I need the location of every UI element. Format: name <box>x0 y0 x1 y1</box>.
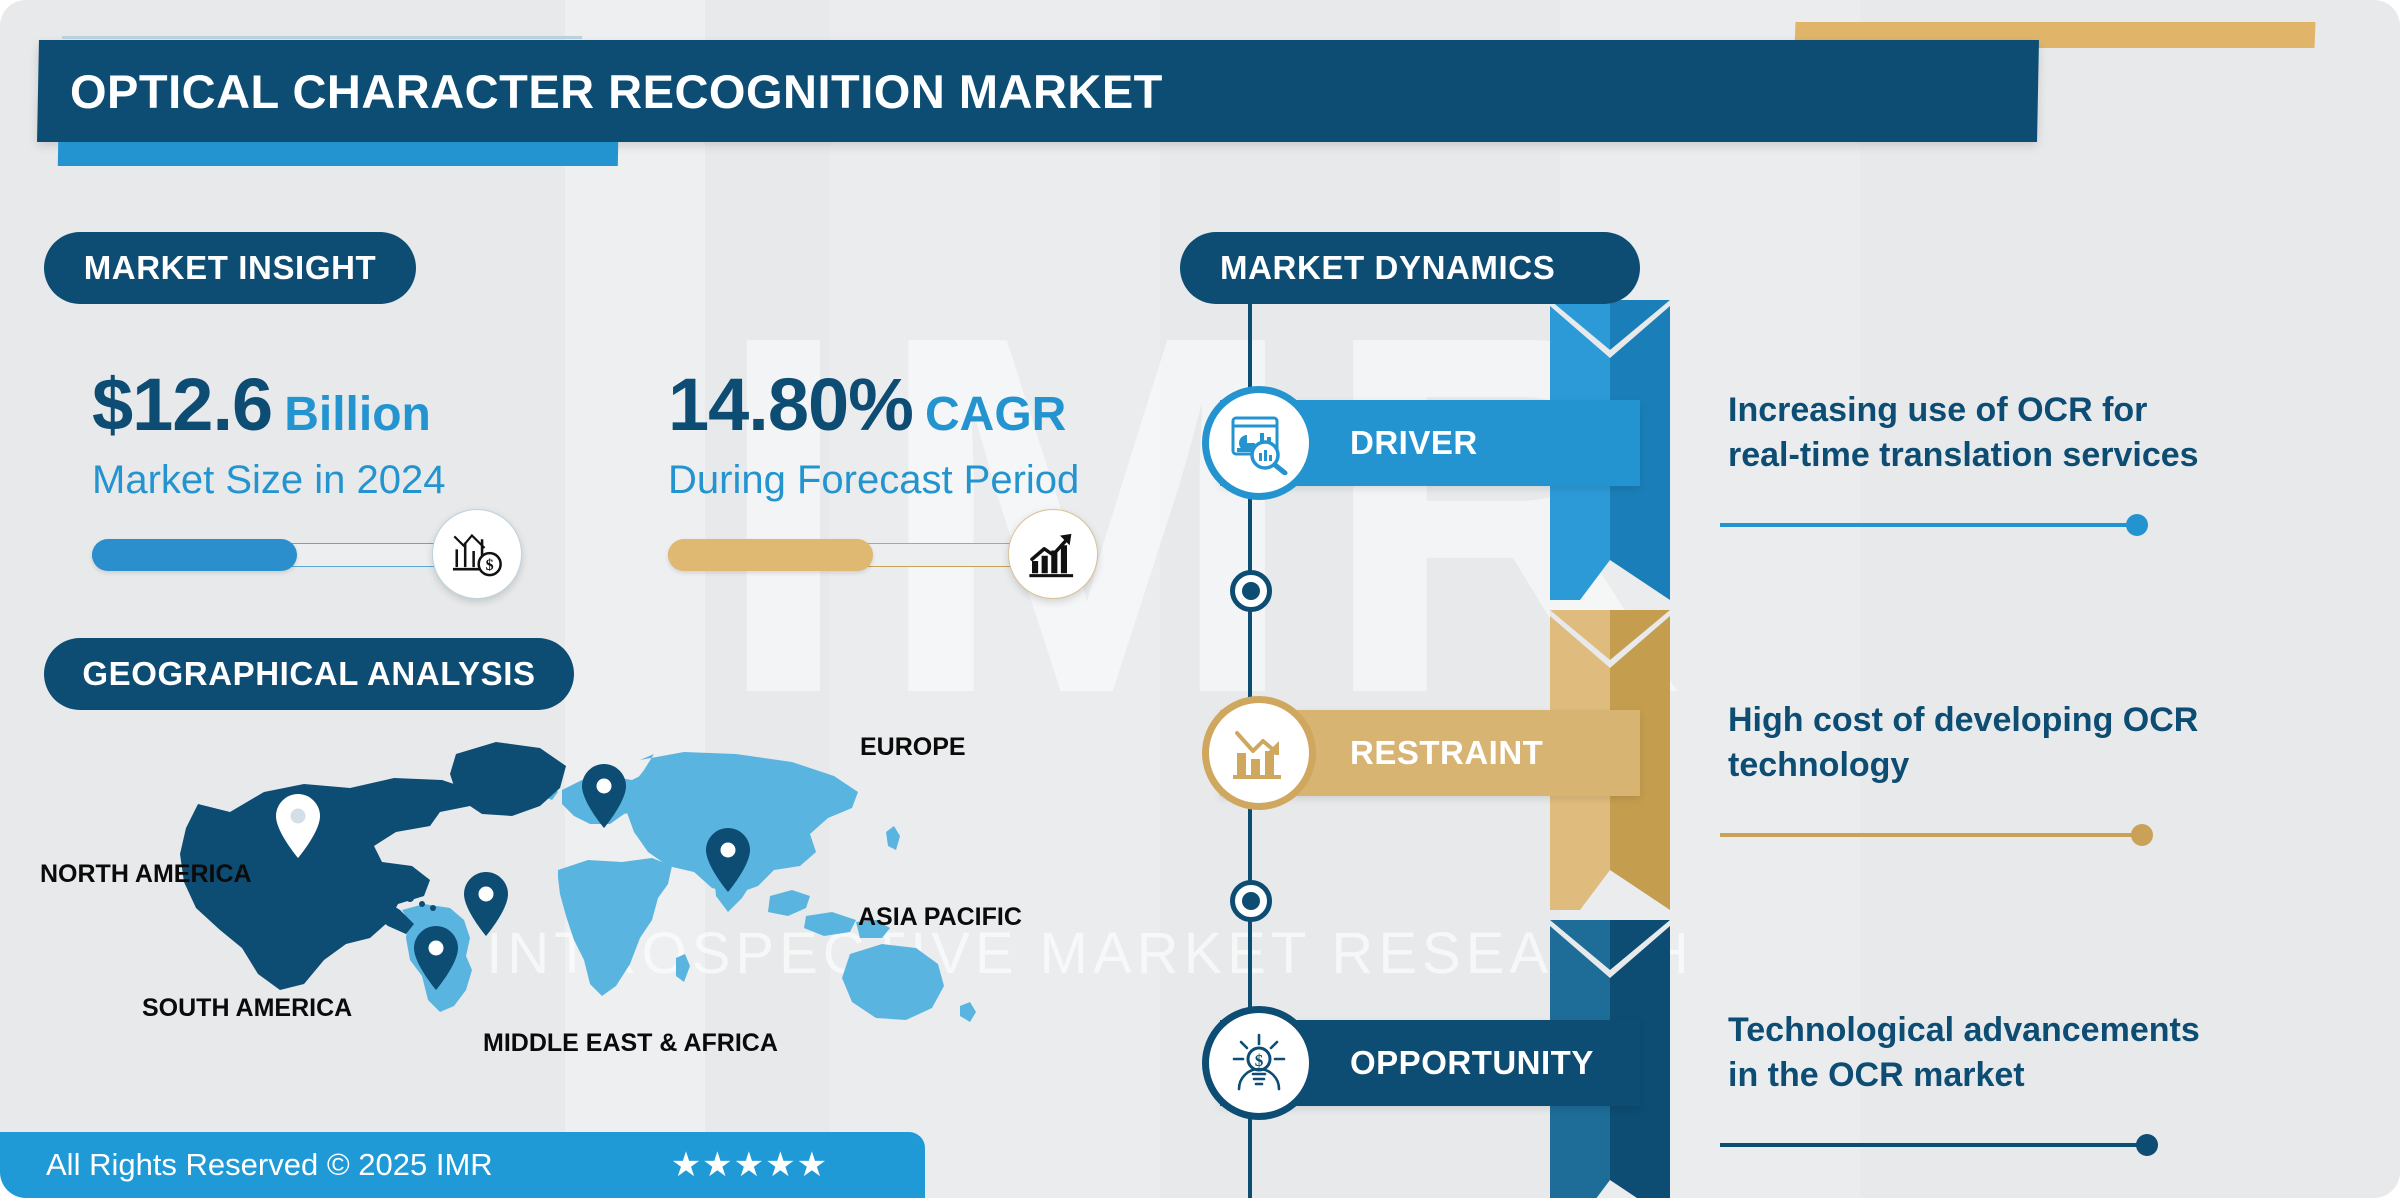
map-label-north-america: NORTH AMERICA <box>40 860 252 889</box>
lightbulb-dollar-icon: $ <box>1202 1006 1316 1120</box>
growth-chart-arrow-icon <box>1008 509 1098 599</box>
stat-market-size-value: $12.6 <box>92 363 272 446</box>
dynamics-text-driver: Increasing use of OCR for real-time tran… <box>1728 388 2228 478</box>
stat-cagr-bar <box>668 537 1058 573</box>
section-pill-market-dynamics: MARKET DYNAMICS <box>1180 232 1640 304</box>
bar-chart-dollar-icon: $ <box>432 509 522 599</box>
stat-market-size-subtitle: Market Size in 2024 <box>92 458 612 503</box>
stat-market-size-unit: Billion <box>284 388 431 441</box>
rating-stars-icon: ★★★★★ <box>671 1145 828 1185</box>
svg-text:$: $ <box>486 557 494 574</box>
footer-bar: All Rights Reserved © 2025 IMR ★★★★★ <box>0 1132 925 1198</box>
declining-bar-chart-icon <box>1202 696 1316 810</box>
dynamics-connector-opportunity <box>1720 1142 2150 1147</box>
dynamics-tag-driver-label: DRIVER <box>1350 424 1478 462</box>
page-title: OPTICAL CHARACTER RECOGNITION MARKET <box>70 52 1970 132</box>
stat-cagr-value: 14.80% <box>668 363 913 446</box>
stat-market-size-headline: $12.6Billion <box>92 368 612 442</box>
map-label-south-america: SOUTH AMERICA <box>142 994 352 1023</box>
dynamics-connector-driver <box>1720 522 2140 527</box>
map-label-asia-pacific: ASIA PACIFIC <box>858 903 1022 932</box>
connector-line <box>1720 1143 2150 1147</box>
stat-cagr-headline: 14.80%CAGR <box>668 368 1228 442</box>
header-blue-underline <box>58 142 618 166</box>
stat-market-size-bar: $ <box>92 537 482 573</box>
infographic-canvas: IMR INTROSPECTIVE MARKET RESEARCH OPTICA… <box>0 0 2400 1198</box>
header-thin-rule <box>62 36 582 39</box>
map-pin-middle-east-africa <box>464 872 508 936</box>
dynamics-tag-restraint-label: RESTRAINT <box>1350 734 1543 772</box>
dynamics-text-restraint: High cost of developing OCR technology <box>1728 698 2228 788</box>
progress-fill <box>668 539 873 571</box>
dynamics-text-opportunity: Technological advancements in the OCR ma… <box>1728 1008 2228 1098</box>
map-label-middle-east-africa: MIDDLE EAST & AFRICA <box>483 1029 778 1058</box>
stat-cagr: 14.80%CAGR During Forecast Period <box>668 368 1228 573</box>
section-pill-market-insight: MARKET INSIGHT <box>44 232 416 304</box>
svg-text:$: $ <box>1255 1051 1264 1070</box>
copyright-text: All Rights Reserved © 2025 IMR <box>46 1147 493 1183</box>
connector-dot <box>2136 1134 2158 1156</box>
stat-cagr-unit: CAGR <box>925 388 1066 441</box>
dashboard-magnifier-icon <box>1202 386 1316 500</box>
connector-dot <box>2131 824 2153 846</box>
connector-dot <box>2126 514 2148 536</box>
stat-market-size: $12.6Billion Market Size in 2024 $ <box>92 368 612 573</box>
dynamics-row-opportunity: OPPORTUNITY $ <box>1180 920 2380 1198</box>
map-label-europe: EUROPE <box>860 733 966 762</box>
dynamics-row-driver: DRIVER Increasing use of OCR for real-ti… <box>1180 300 2380 600</box>
dynamics-tag-opportunity-label: OPPORTUNITY <box>1350 1044 1594 1082</box>
market-dynamics-label: MARKET DYNAMICS <box>1220 249 1555 287</box>
dynamics-row-restraint: RESTRAINT High cost of developing OCR te… <box>1180 610 2380 910</box>
market-insight-label: MARKET INSIGHT <box>84 249 377 287</box>
connector-line <box>1720 523 2140 527</box>
connector-line <box>1720 833 2145 837</box>
geographical-analysis-label: GEOGRAPHICAL ANALYSIS <box>82 655 535 693</box>
progress-fill <box>92 539 297 571</box>
section-pill-geographical-analysis: GEOGRAPHICAL ANALYSIS <box>44 638 574 710</box>
stat-cagr-subtitle: During Forecast Period <box>668 458 1228 503</box>
dynamics-connector-restraint <box>1720 832 2145 837</box>
market-dynamics-timeline: DRIVER Increasing use of OCR for real-ti… <box>1180 300 2380 1198</box>
